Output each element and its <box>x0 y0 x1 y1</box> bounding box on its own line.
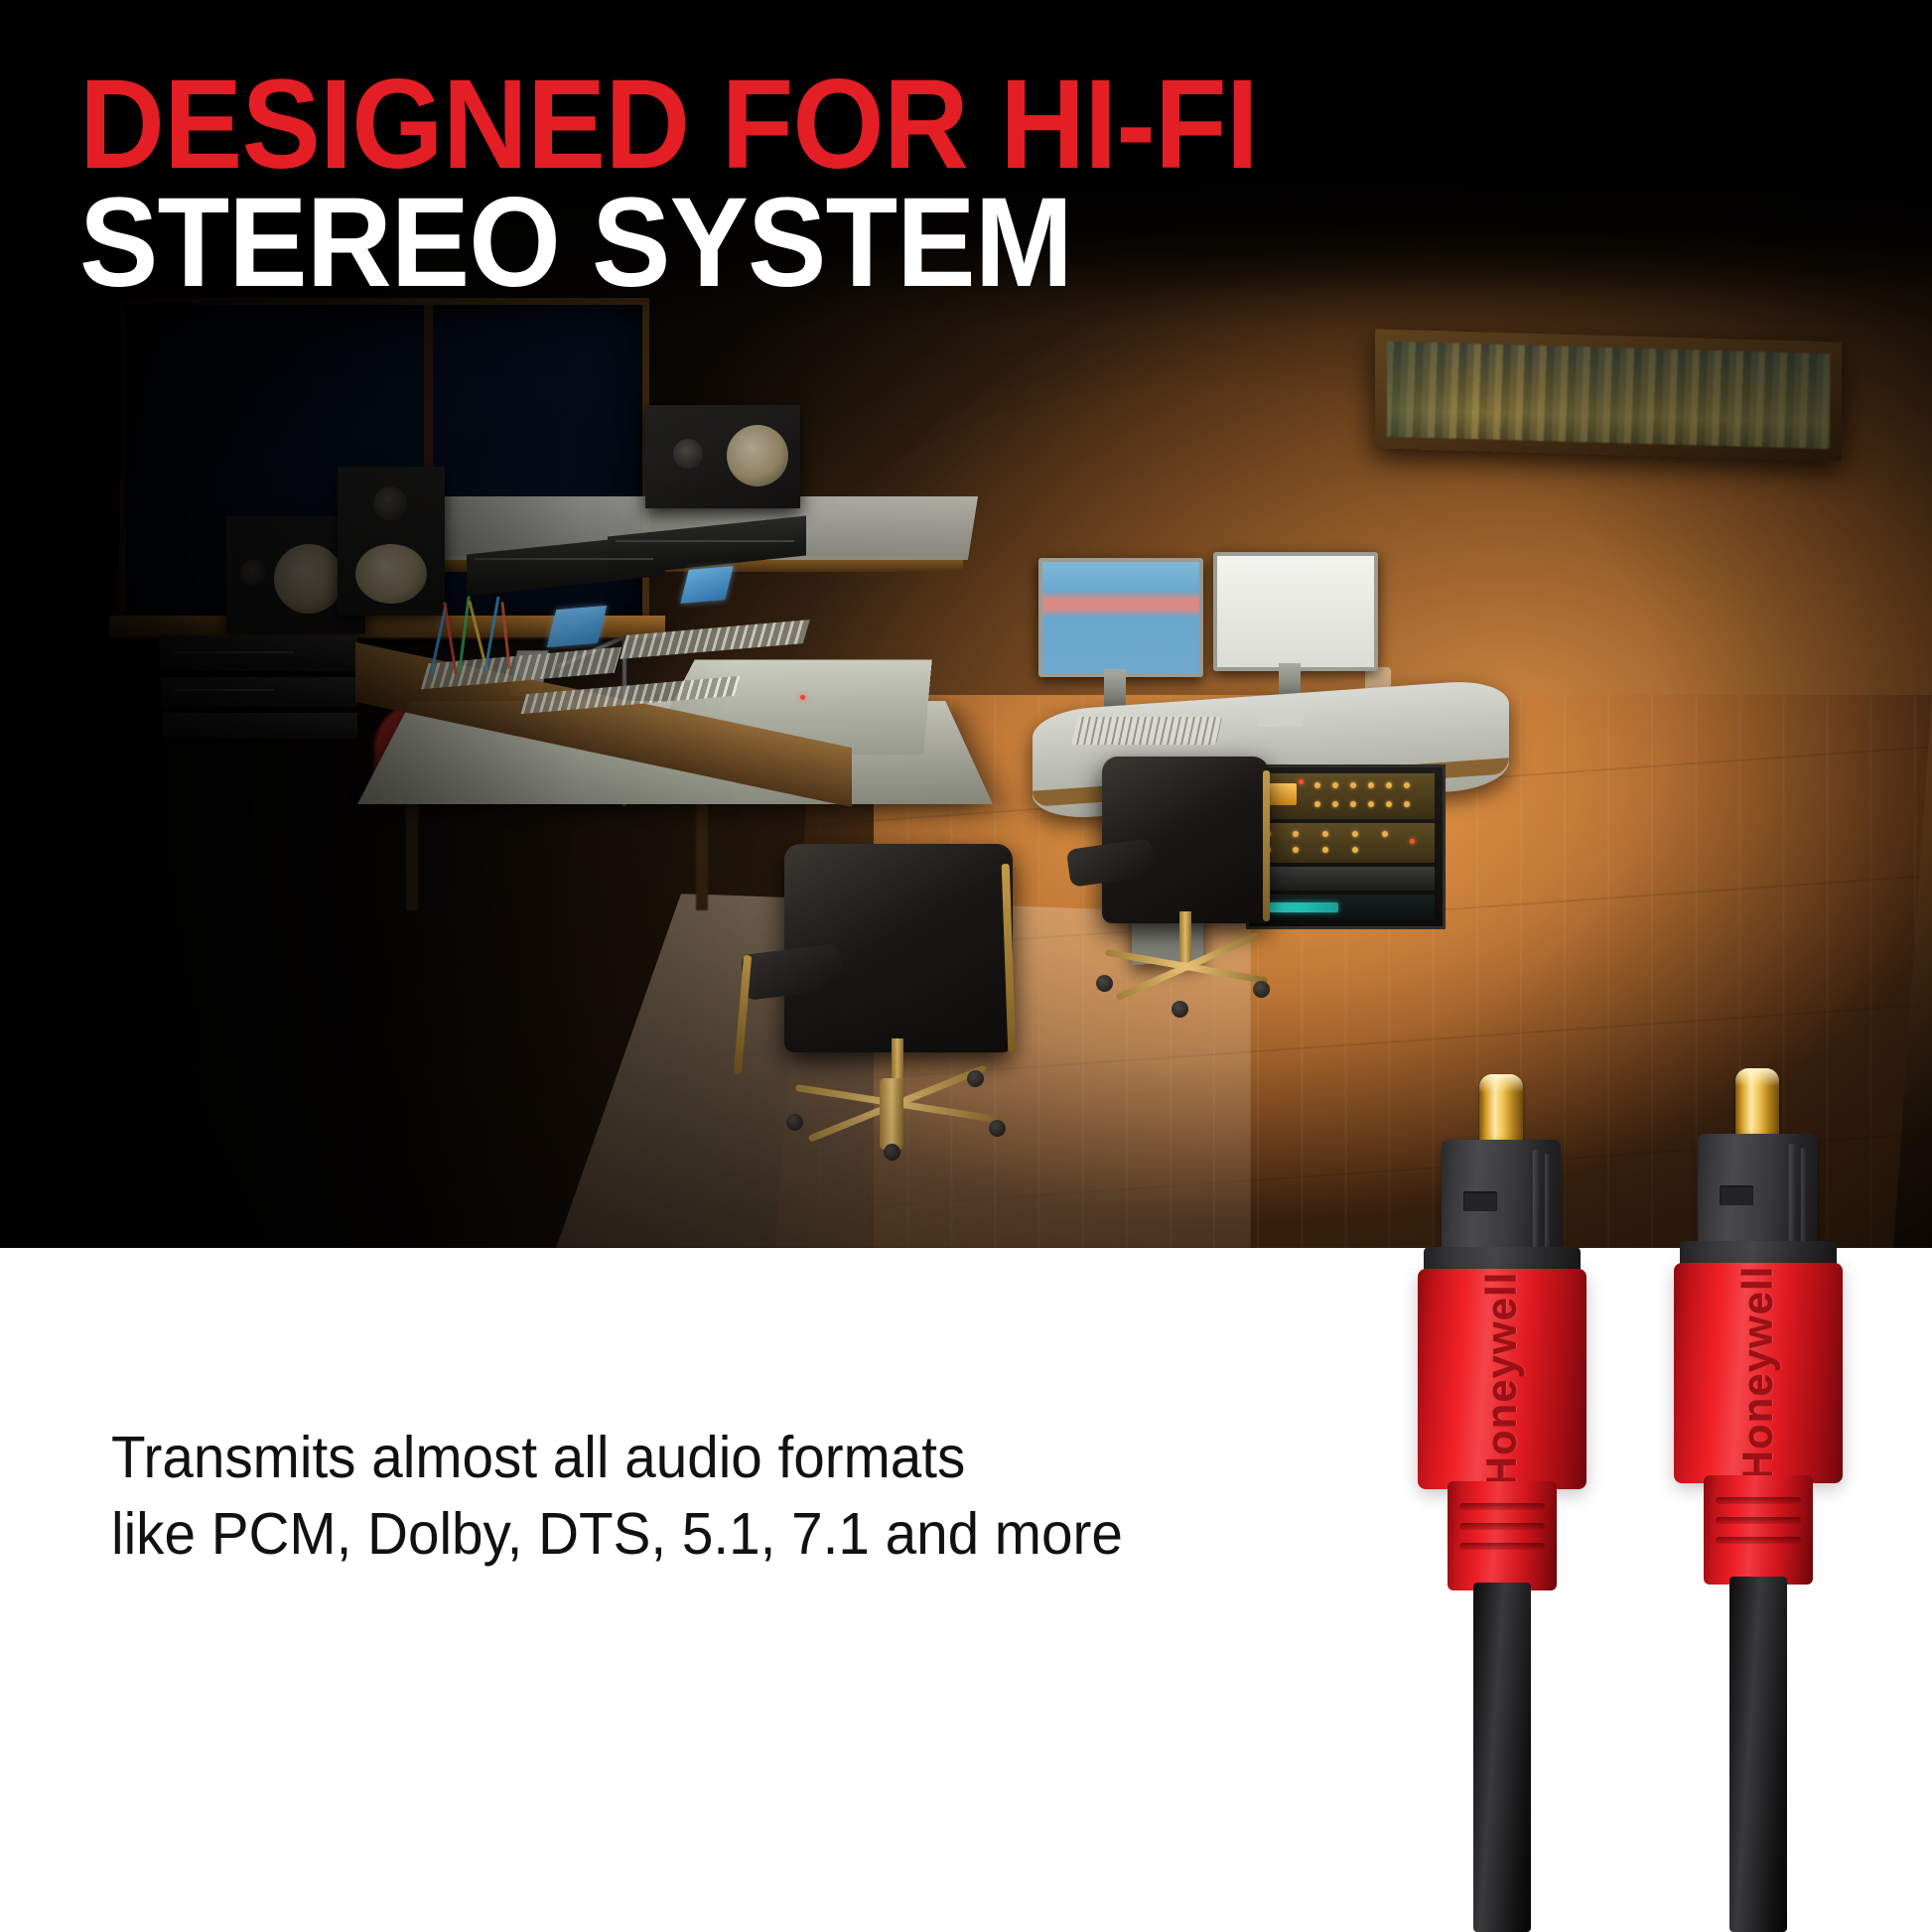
chair-side-frame <box>1263 770 1270 921</box>
gear-knob <box>1352 847 1358 853</box>
keyboard <box>1071 717 1222 745</box>
monitor-stand <box>1104 669 1126 709</box>
feature-description: Transmits almost all audio formats like … <box>111 1420 1123 1572</box>
console-display-right <box>680 566 733 604</box>
chair-caster <box>967 1070 984 1087</box>
daw-monitor <box>1038 558 1203 677</box>
rack-detail <box>175 689 274 691</box>
gear-knob <box>1350 782 1356 788</box>
meterbridge-line <box>475 558 653 560</box>
product-banner: DESIGNED FOR HI-FI STEREO SYSTEM Transmi… <box>0 0 1932 1932</box>
studio-monitor-center <box>645 405 800 508</box>
gear-knob <box>1314 801 1320 807</box>
gear-knob <box>1352 831 1358 837</box>
tweeter <box>240 560 266 586</box>
chair-caster <box>884 1144 900 1161</box>
white-panel <box>0 1248 1932 1932</box>
table-leg <box>406 791 418 910</box>
feature-line-1: Transmits almost all audio formats <box>111 1420 1123 1496</box>
gear-knob <box>1332 782 1338 788</box>
rack-unit-bottom <box>1253 895 1435 920</box>
gear-knob <box>1382 831 1388 837</box>
gear-knob <box>1293 831 1299 837</box>
chair-caster <box>1096 975 1113 992</box>
tweeter <box>373 486 407 520</box>
feature-line-2: like PCM, Dolby, DTS, 5.1, 7.1 and more <box>111 1496 1123 1573</box>
chair-base-arm <box>880 1078 903 1150</box>
woofer-cone <box>274 544 344 614</box>
woofer-cone <box>727 425 788 486</box>
headline-line-2: STEREO SYSTEM <box>79 184 1258 302</box>
rack-unit-mid <box>1253 823 1435 863</box>
gear-knob <box>1368 801 1374 807</box>
headline-line-1: DESIGNED FOR HI-FI <box>79 66 1258 184</box>
gear-knob <box>1322 847 1328 853</box>
rack-unit <box>163 713 357 739</box>
chair-caster <box>1172 1001 1188 1018</box>
rack-unit-lower <box>1253 867 1435 891</box>
chair-caster <box>786 1114 803 1131</box>
tweeter <box>673 439 703 469</box>
headline-block: DESIGNED FOR HI-FI STEREO SYSTEM <box>79 66 1346 302</box>
gear-knob <box>1350 801 1356 807</box>
gear-knob <box>1404 782 1410 788</box>
gear-knob <box>1368 782 1374 788</box>
rack-unit <box>159 635 357 671</box>
gear-knob <box>1332 801 1338 807</box>
meterbridge-line <box>616 540 794 542</box>
rack-detail <box>175 651 294 653</box>
rack-unit <box>161 677 357 707</box>
outboard-gear-rack <box>1246 764 1446 929</box>
mouse-pad-device <box>1257 707 1307 727</box>
framed-painting <box>1375 329 1842 461</box>
studio-monitor-tall <box>338 467 445 616</box>
secondary-monitor <box>1213 552 1378 671</box>
gear-knob <box>1386 801 1392 807</box>
painting-canvas <box>1387 342 1830 449</box>
gear-led <box>1410 839 1415 844</box>
console-display-left <box>547 606 608 647</box>
chair-backrest <box>1102 757 1269 923</box>
gear-knob <box>1293 847 1299 853</box>
woofer-cone <box>355 544 427 604</box>
chair-caster <box>1253 981 1270 998</box>
console-led <box>800 695 805 700</box>
rack-unit-top <box>1253 773 1435 819</box>
chair-caster <box>989 1120 1006 1137</box>
gear-led <box>1299 779 1304 784</box>
gear-knob <box>1386 782 1392 788</box>
gear-knob <box>1314 782 1320 788</box>
gear-knob <box>1404 801 1410 807</box>
teal-display <box>1269 902 1338 912</box>
gear-knob <box>1322 831 1328 837</box>
table-leg <box>696 791 708 910</box>
